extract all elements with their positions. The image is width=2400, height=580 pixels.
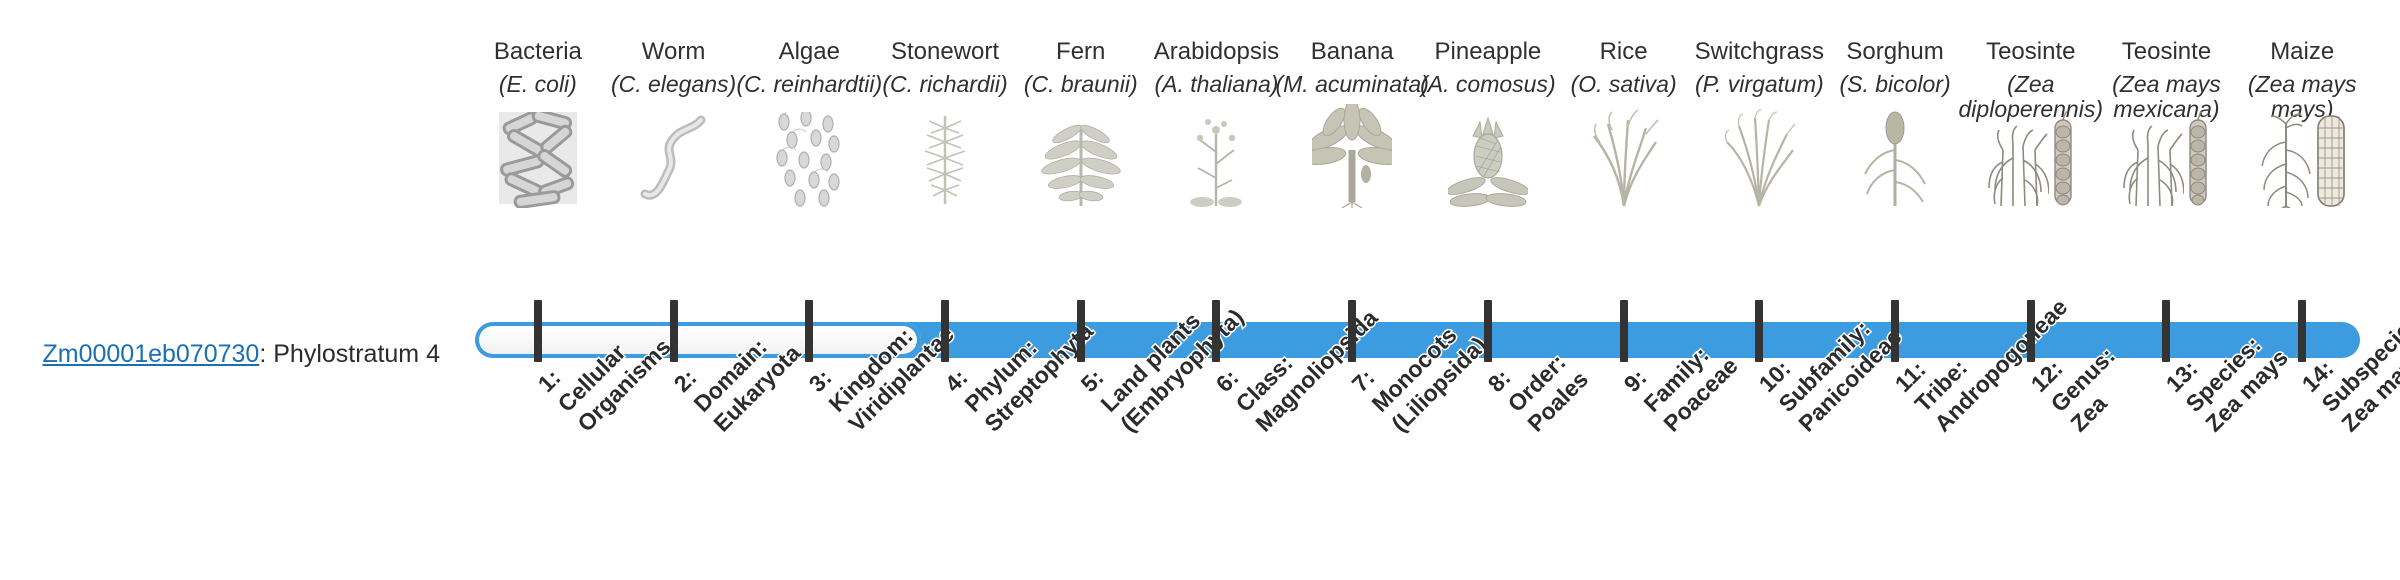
arabidopsis-icon — [1149, 108, 1285, 208]
maize-icon — [2234, 108, 2370, 208]
gene-phylostratum-text: Phylostratum 4 — [273, 340, 440, 368]
species-column: Algae(C. reinhardtii)3:Kingdom:Viridipla… — [741, 0, 877, 580]
phylostratum-tick — [670, 300, 678, 362]
gene-label: Zm00001eb070730: Phylostratum 4 — [40, 340, 440, 369]
phylostratum-tick — [2027, 300, 2035, 362]
banana-icon — [1284, 108, 1420, 208]
species-column: Bacteria(E. coli)1:CellularOrganisms — [470, 0, 606, 580]
gene-label-separator: : — [259, 340, 273, 368]
phylostratum-tick — [1755, 300, 1763, 362]
phylostratum-tick — [534, 300, 542, 362]
teosinte-diplo-icon — [1963, 108, 2099, 208]
species-column: Rice(O. sativa)9:Family:Poaceae — [1556, 0, 1692, 580]
phylostratum-tick — [1891, 300, 1899, 362]
phylostratum-tick — [1212, 300, 1220, 362]
phylostratum-tick — [1077, 300, 1085, 362]
species-column: Teosinte(Zea mays mexicana)13:Species:Ze… — [2099, 0, 2235, 580]
worm-icon — [606, 108, 742, 208]
switchgrass-icon — [1691, 108, 1827, 208]
stonewort-icon — [877, 108, 1013, 208]
phylostratum-timeline: Zm00001eb070730: Phylostratum 4 Bacteria… — [0, 0, 2400, 580]
rice-icon — [1556, 108, 1692, 208]
phylostratum-tick — [805, 300, 813, 362]
gene-id-link[interactable]: Zm00001eb070730 — [42, 340, 259, 368]
fern-icon — [1013, 108, 1149, 208]
phylostratum-tick — [2298, 300, 2306, 362]
species-column: Pineapple(A. comosus)8:Order:Poales — [1420, 0, 1556, 580]
phylostratum-tick — [1484, 300, 1492, 362]
algae-icon — [741, 108, 877, 208]
phylostratum-tick — [941, 300, 949, 362]
teosinte-mex-icon — [2099, 108, 2235, 208]
phylostratum-tick — [1620, 300, 1628, 362]
pineapple-icon — [1420, 108, 1556, 208]
phylostratum-tick — [1348, 300, 1356, 362]
species-common-name: Maize — [2220, 38, 2384, 66]
species-column: Worm(C. elegans)2:Domain:Eukaryota — [606, 0, 742, 580]
species-track: Bacteria(E. coli)1:CellularOrganismsWorm… — [470, 0, 2370, 580]
species-column: Maize(Zea mays mays)14:Subspecies:Zea ma… — [2234, 0, 2370, 580]
sorghum-icon — [1827, 108, 1963, 208]
bacteria-icon — [470, 108, 606, 208]
species-column: Switchgrass(P. virgatum)10:Subfamily:Pan… — [1691, 0, 1827, 580]
phylostratum-tick — [2162, 300, 2170, 362]
